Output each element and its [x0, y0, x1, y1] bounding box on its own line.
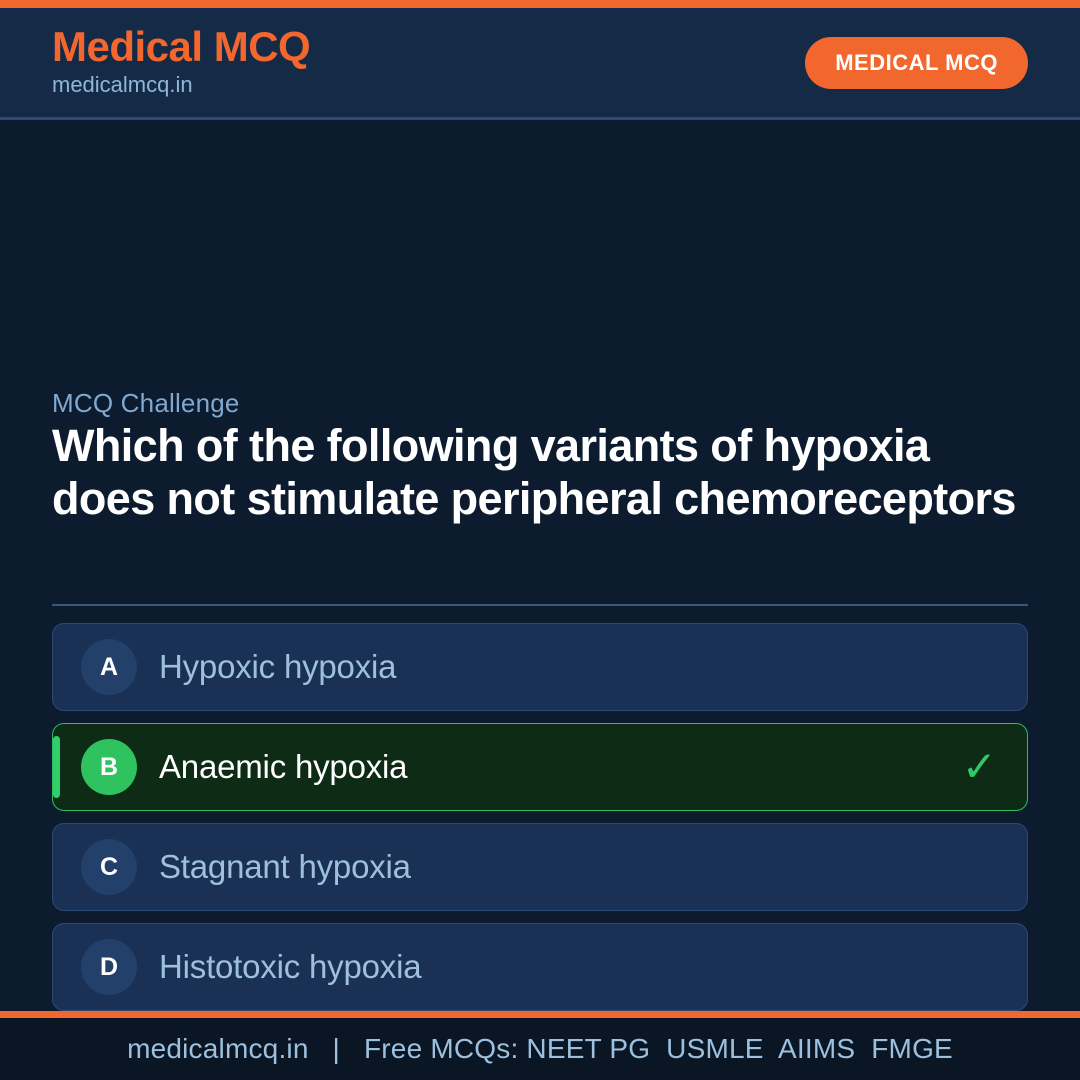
option-label: Histotoxic hypoxia	[159, 948, 421, 986]
question-divider	[52, 604, 1028, 606]
top-accent-bar	[0, 0, 1080, 8]
option-d[interactable]: D Histotoxic hypoxia ✓	[52, 923, 1028, 1011]
footer: medicalmcq.in | Free MCQs: NEET PG USMLE…	[0, 1018, 1080, 1080]
option-c[interactable]: C Stagnant hypoxia ✓	[52, 823, 1028, 911]
footer-text: medicalmcq.in | Free MCQs: NEET PG USMLE…	[127, 1033, 953, 1065]
medical-mcq-badge: MEDICAL MCQ	[805, 37, 1028, 89]
brand: Medical MCQ medicalmcq.in	[52, 25, 310, 100]
option-b[interactable]: B Anaemic hypoxia ✓	[52, 723, 1028, 811]
option-label: Stagnant hypoxia	[159, 848, 411, 886]
footer-accent-bar	[0, 1011, 1080, 1018]
option-letter-badge: A	[81, 639, 137, 695]
check-icon: ✓	[962, 746, 997, 788]
option-letter-badge: D	[81, 939, 137, 995]
option-a[interactable]: A Hypoxic hypoxia ✓	[52, 623, 1028, 711]
question-text: Which of the following variants of hypox…	[52, 420, 1028, 525]
option-label: Hypoxic hypoxia	[159, 648, 396, 686]
header: Medical MCQ medicalmcq.in MEDICAL MCQ	[0, 8, 1080, 120]
brand-title: Medical MCQ	[52, 25, 310, 69]
options-list: A Hypoxic hypoxia ✓ B Anaemic hypoxia ✓ …	[52, 623, 1028, 1011]
option-letter-badge: B	[81, 739, 137, 795]
question-area: MCQ Challenge Which of the following var…	[0, 120, 1080, 1011]
mcq-card: Medical MCQ medicalmcq.in MEDICAL MCQ MC…	[0, 0, 1080, 1080]
brand-subtitle: medicalmcq.in	[52, 71, 310, 100]
option-label: Anaemic hypoxia	[159, 748, 407, 786]
eyebrow-label: MCQ Challenge	[52, 388, 240, 419]
correct-accent-bar	[53, 736, 60, 798]
option-letter-badge: C	[81, 839, 137, 895]
